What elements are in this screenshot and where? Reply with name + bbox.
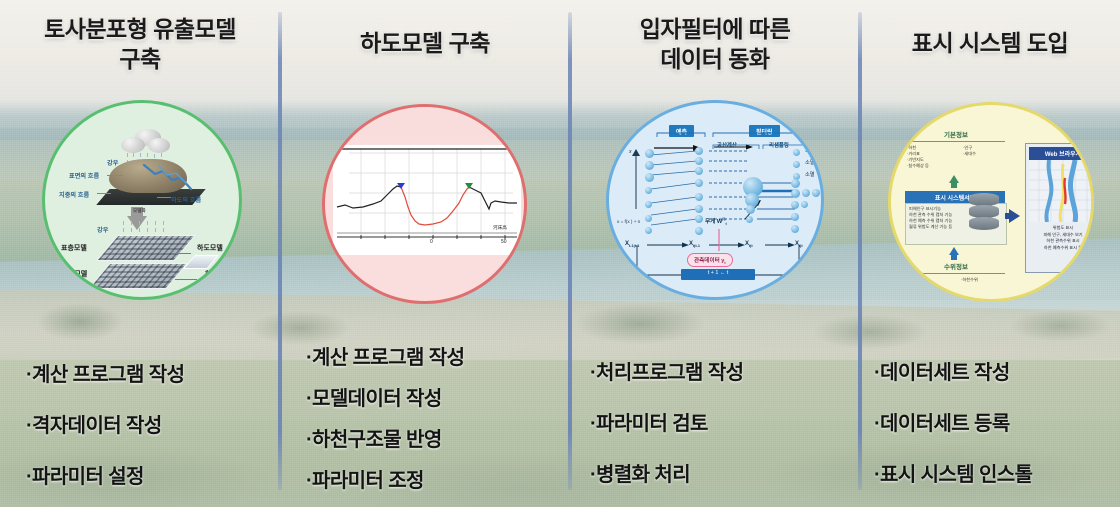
xtick-0: 0 (430, 239, 433, 245)
time-step-bar: t + 1 ← t (681, 269, 755, 280)
diagram-circle-3: 상태 공간 x 예측 필터링 공산계산 리샘플링 (606, 100, 824, 300)
label-subsurface-flow: 지중의 흐름 (59, 190, 89, 199)
arrow-up-basic-info (949, 175, 959, 183)
diagram-circle-2: 0 50 河床高 (322, 104, 527, 304)
arrow-up-level-info-stem (951, 255, 957, 260)
bullet-item: ·계산 프로그램 작성 (26, 365, 280, 385)
server-feature-list: 피해인구 표시기능 하천 관측 수위 캡처 기능 하천 예측 수위 캡처 기능 … (909, 206, 952, 230)
bullet-item: ·파라미터 검토 (590, 414, 860, 434)
diagram-circle-1: 강우 표면의 흐름 지중의 흐름 하도의 흐름 모델화 강우 (42, 100, 242, 300)
label-surface-model: 표층모델 (61, 243, 87, 253)
panel-title-1: 토사분포형 유출모델 구축 (0, 14, 280, 75)
list-basic-info-right: ·인구 ·세대수 (963, 145, 976, 157)
bullet-list-1: ·계산 프로그램 작성 ·격자데이터 작성 ·파라미터 설정 (26, 365, 280, 487)
pointer-surface-flow (107, 175, 123, 176)
label-channel-model-1: 하도모델 (197, 243, 223, 253)
panel-particle-filter: 입자필터에 따른 데이터 동화 상태 공간 x 예측 필터링 공산계산 리샘플링 (570, 0, 860, 507)
flow-connector-1 (173, 253, 191, 254)
modelling-arrow-head (127, 216, 147, 230)
flow-arrow-stem (1005, 213, 1011, 219)
map-preview (1029, 160, 1094, 222)
cloud-icon-b (121, 137, 145, 153)
browser-caption: 위험도 표시 피해 인구, 세대수 보기 하천 관측수위 표시 하천 예측수위 … (1027, 225, 1094, 252)
database-icon (969, 193, 999, 237)
label-surface-flow: 표면의 흐름 (69, 171, 99, 180)
map-preview-svg (1029, 160, 1094, 222)
bullet-item: ·계산 프로그램 작성 (306, 348, 570, 368)
panel-divider-3 (858, 12, 862, 490)
list-basic-info-left: ·하천 ·거리표 ·기반지도 ·침수예상 등 (907, 145, 929, 169)
observation-data-sub: t (724, 261, 725, 265)
panel-divider-1 (278, 12, 282, 490)
state-x-pred: Xt|t-1 (689, 241, 700, 248)
label-rain-top: 강우 (107, 158, 118, 167)
groundwater-model-plate (88, 263, 188, 289)
bullet-item: ·격자데이터 작성 (26, 416, 280, 436)
bullet-list-3: ·처리프로그램 작성 ·파라미터 검토 ·병렬화 처리 (590, 363, 860, 485)
panel-runoff-model: 토사분포형 유출모델 구축 강우 (0, 0, 280, 507)
arrow-up-level-info (949, 247, 959, 255)
rule-level-info (905, 273, 1005, 274)
browser-header: Web 브라우저 (1029, 147, 1094, 160)
bullet-item: ·처리프로그램 작성 (590, 363, 860, 383)
cloud-icon-c (148, 138, 170, 153)
list-level-info-right: ·하천수위 (961, 277, 978, 283)
state-x-prev: Xt-1|t-1 (625, 241, 639, 248)
channel-model-block-2 (192, 279, 225, 292)
label-rain-lower: 강우 (97, 225, 108, 234)
state-x-filt: Xt|t (745, 241, 753, 248)
pointer-channel-flow (157, 197, 171, 198)
bullet-item: ·병렬화 처리 (590, 465, 860, 485)
xtick-50: 50 (501, 239, 507, 245)
bullet-list-4: ·데이터세트 작성 ·데이터세트 등록 ·표시 시스템 인스톨 (874, 363, 1120, 485)
panel-display-system: 표시 시스템 도입 기본정보 ·하천 ·거리표 ·기반지도 ·침수예상 등 ·인… (860, 0, 1120, 507)
diagram-circle-4: 기본정보 ·하천 ·거리표 ·기반지도 ·침수예상 등 ·인구 ·세대수 표시 … (888, 102, 1094, 302)
rule-basic-info (905, 141, 1005, 142)
label-channel-model-2: 하도모델 (205, 269, 231, 279)
bullet-list-2: ·계산 프로그램 작성 ·모델데이터 작성 ·하천구조물 반영 ·파라미터 조정 (306, 348, 570, 491)
cross-section-svg (333, 145, 521, 255)
bullet-item: ·데이터세트 등록 (874, 414, 1120, 434)
pointer-subsurface-flow (97, 193, 111, 194)
surface-model-plate (96, 235, 196, 261)
panel-divider-2 (568, 12, 572, 490)
bullet-item: ·표시 시스템 인스톨 (874, 465, 1120, 485)
bullet-item: ·모델데이터 작성 (306, 389, 570, 409)
bullet-item: ·하천구조물 반영 (306, 430, 570, 450)
heading-basic-info: 기본정보 (909, 129, 1003, 139)
list-level-info-left: ·예측수위 ·실측입력값 등 (901, 277, 927, 289)
panel-title-2: 하도모델 구축 (280, 28, 570, 58)
heading-level-info: 수위정보 (909, 261, 1003, 271)
label-groundwater-model: 지하수모델 (55, 269, 87, 279)
infographic-root: 토사분포형 유출모델 구축 강우 (0, 0, 1120, 507)
database-disc (969, 217, 999, 230)
channel-model-block-1 (183, 255, 219, 269)
channel-flow-path (141, 161, 197, 199)
panel-row: 토사분포형 유출모델 구축 강우 (0, 0, 1120, 507)
cross-section-chart: 0 50 河床高 (333, 145, 521, 255)
observation-data-text: 관측데이터 y (694, 258, 724, 264)
bullet-item: ·데이터세트 작성 (874, 363, 1120, 383)
state-x-next: Xt|t (795, 241, 803, 248)
label-channel-flow: 하도의 흐름 (171, 195, 201, 204)
bullet-item: ·파라미터 조정 (306, 471, 570, 491)
bullet-item: ·파라미터 설정 (26, 467, 280, 487)
chart-top-band (325, 107, 524, 137)
panel-title-4: 표시 시스템 도입 (860, 28, 1120, 58)
panel-channel-model: 하도모델 구축 (280, 0, 570, 507)
label-riverbed: 河床高 (493, 225, 507, 231)
label-modelling: 모델화 (133, 208, 146, 214)
flow-connector-2 (175, 279, 197, 280)
panel-title-3: 입자필터에 따른 데이터 동화 (570, 14, 860, 75)
observation-data-badge: 관측데이터 yt (687, 253, 733, 267)
arrow-up-basic-info-stem (951, 183, 957, 188)
